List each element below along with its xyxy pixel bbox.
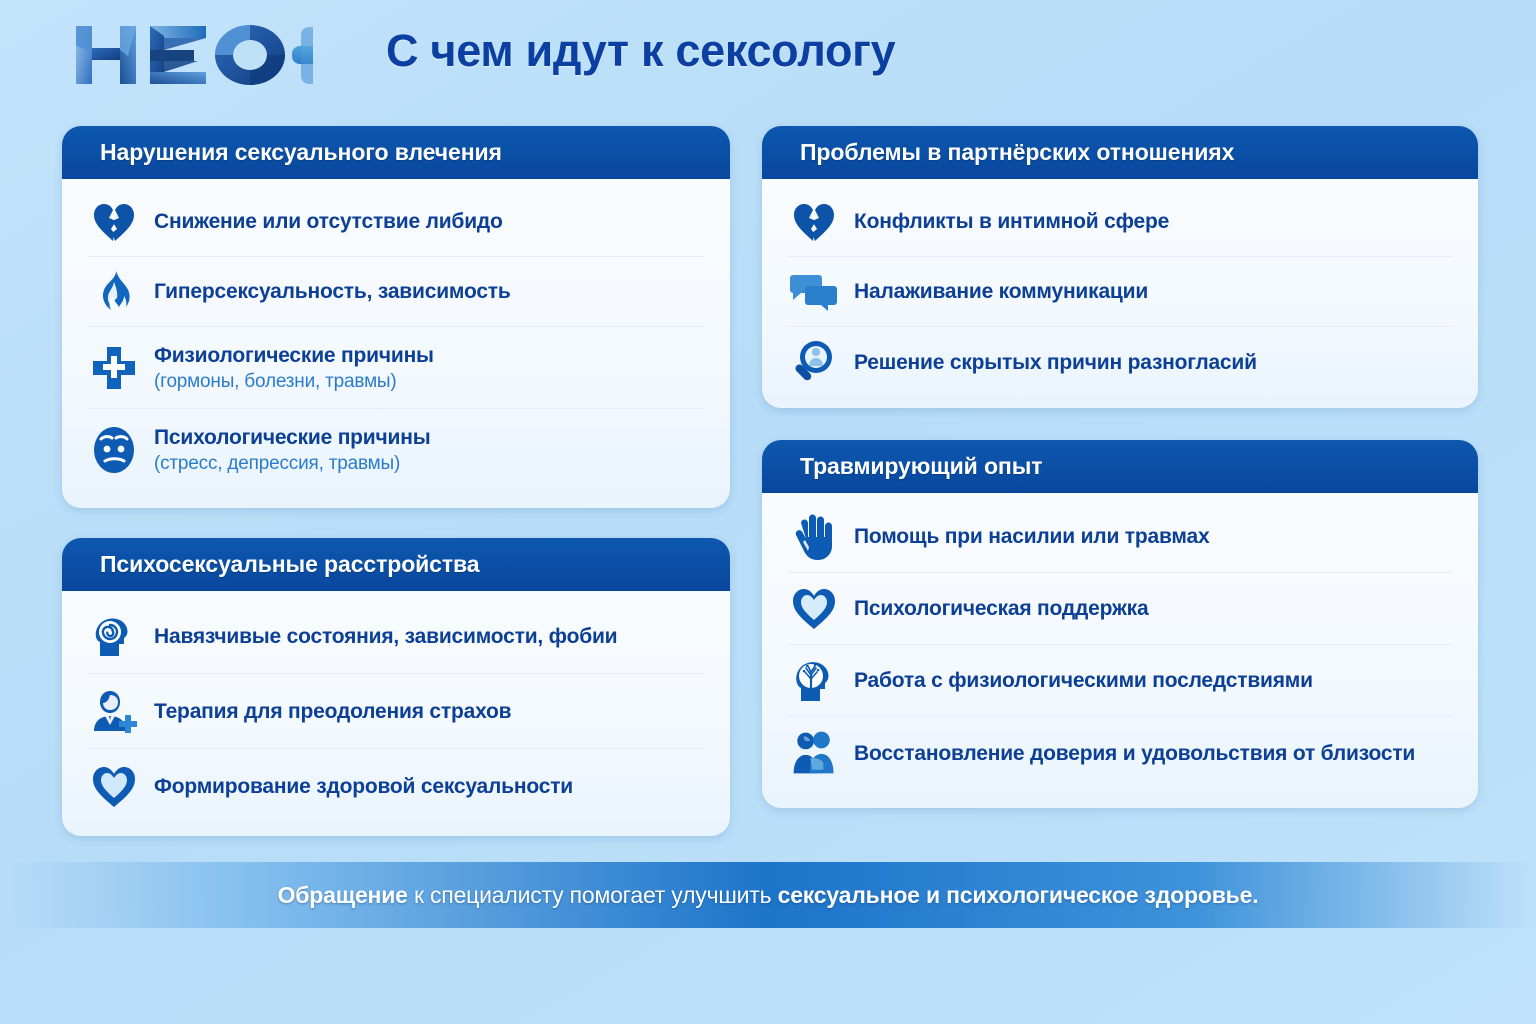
list-item-title: Решение скрытых причин разногласий bbox=[854, 349, 1257, 376]
list-item[interactable]: Восстановление доверия и удовольствия от… bbox=[788, 717, 1452, 789]
sad-face-icon bbox=[88, 424, 140, 476]
list-item-text: Психологические причины (стресс, депресс… bbox=[154, 424, 430, 476]
card-psychosexual-body: Навязчивые состояния, зависимости, фобии… bbox=[62, 591, 730, 836]
list-item-text: Снижение или отсутствие либидо bbox=[154, 208, 503, 235]
card-desire-body: Снижение или отсутствие либидо Гиперсекс… bbox=[62, 179, 730, 503]
list-item-text: Терапия для преодоления страхов bbox=[154, 698, 511, 725]
list-item-text: Навязчивые состояния, зависимости, фобии bbox=[154, 623, 617, 650]
flame-icon bbox=[88, 266, 140, 318]
neo-plus-logo bbox=[58, 16, 313, 94]
list-item-text: Помощь при насилии или травмах bbox=[854, 523, 1209, 550]
list-item-text: Налаживание коммуникации bbox=[854, 278, 1148, 305]
list-item[interactable]: Налаживание коммуникации bbox=[788, 257, 1452, 327]
list-item-title: Гиперсексуальность, зависимость bbox=[154, 278, 511, 305]
magnifier-person-icon bbox=[788, 336, 840, 388]
card-trauma-title: Травмирующий опыт bbox=[800, 453, 1042, 480]
list-item-text: Формирование здоровой сексуальности bbox=[154, 773, 573, 800]
footer-tail: сексуальное и психологическое здоровье. bbox=[778, 882, 1259, 908]
open-hand-icon bbox=[788, 511, 840, 563]
card-trauma-header: Травмирующий опыт bbox=[762, 440, 1478, 493]
footer-banner: Обращение к специалисту помогает улучшит… bbox=[0, 862, 1536, 928]
head-spiral-icon bbox=[88, 610, 140, 662]
couple-hug-icon bbox=[788, 727, 840, 779]
list-item-subtitle: (гормоны, болезни, травмы) bbox=[154, 369, 434, 394]
page-title: С чем идут к сексологу bbox=[386, 21, 1086, 81]
list-item-subtitle: (стресс, депрессия, травмы) bbox=[154, 451, 430, 476]
card-desire-header: Нарушения сексуального влечения bbox=[62, 126, 730, 179]
speech-bubbles-icon bbox=[788, 266, 840, 318]
list-item-text: Восстановление доверия и удовольствия от… bbox=[854, 740, 1415, 767]
card-partner-body: Конфликты в интимной сфере Налаживание к… bbox=[762, 179, 1478, 408]
list-item-title: Навязчивые состояния, зависимости, фобии bbox=[154, 623, 617, 650]
list-item[interactable]: Решение скрытых причин разногласий bbox=[788, 327, 1452, 397]
list-item-text: Решение скрытых причин разногласий bbox=[854, 349, 1257, 376]
list-item[interactable]: Конфликты в интимной сфере bbox=[788, 187, 1452, 257]
list-item[interactable]: Гиперсексуальность, зависимость bbox=[88, 257, 704, 327]
infographic-page: С чем идут к сексологу Нарушения сексуал… bbox=[0, 0, 1536, 1024]
list-item-text: Психологическая поддержка bbox=[854, 595, 1148, 622]
list-item[interactable]: Физиологические причины (гормоны, болезн… bbox=[88, 327, 704, 409]
broken-heart-icon bbox=[788, 196, 840, 248]
list-item[interactable]: Навязчивые состояния, зависимости, фобии bbox=[88, 599, 704, 674]
list-item-title: Физиологические причины bbox=[154, 342, 434, 369]
card-partner: Проблемы в партнёрских отношениях Конфли… bbox=[762, 126, 1478, 408]
head-tree-icon bbox=[788, 655, 840, 707]
list-item-title: Работа с физиологическими последствиями bbox=[854, 667, 1313, 694]
card-desire-title: Нарушения сексуального влечения bbox=[100, 139, 502, 166]
list-item[interactable]: Терапия для преодоления страхов bbox=[88, 674, 704, 749]
list-item-title: Снижение или отсутствие либидо bbox=[154, 208, 503, 235]
list-item-text: Работа с физиологическими последствиями bbox=[854, 667, 1313, 694]
list-item[interactable]: Помощь при насилии или травмах bbox=[788, 501, 1452, 573]
card-partner-header: Проблемы в партнёрских отношениях bbox=[762, 126, 1478, 179]
broken-heart-icon bbox=[88, 196, 140, 248]
person-plus-icon bbox=[88, 685, 140, 737]
list-item-title: Формирование здоровой сексуальности bbox=[154, 773, 573, 800]
medical-cross-icon bbox=[88, 342, 140, 394]
list-item-text: Гиперсексуальность, зависимость bbox=[154, 278, 511, 305]
list-item[interactable]: Снижение или отсутствие либидо bbox=[88, 187, 704, 257]
list-item-title: Психологические причины bbox=[154, 424, 430, 451]
card-psychosexual-header: Психосексуальные расстройства bbox=[62, 538, 730, 591]
heart-icon bbox=[88, 761, 140, 813]
card-partner-title: Проблемы в партнёрских отношениях bbox=[800, 139, 1234, 166]
list-item-title: Восстановление доверия и удовольствия от… bbox=[854, 740, 1415, 767]
footer-text: Обращение к специалисту помогает улучшит… bbox=[278, 882, 1259, 909]
footer-lead: Обращение bbox=[278, 882, 408, 908]
page-header: С чем идут к сексологу bbox=[0, 0, 1536, 112]
list-item-title: Конфликты в интимной сфере bbox=[854, 208, 1169, 235]
footer-mid: к специалисту помогает улучшить bbox=[408, 882, 778, 908]
list-item-title: Помощь при насилии или травмах bbox=[854, 523, 1209, 550]
list-item-text: Физиологические причины (гормоны, болезн… bbox=[154, 342, 434, 394]
list-item[interactable]: Психологическая поддержка bbox=[788, 573, 1452, 645]
card-desire: Нарушения сексуального влечения Снижение… bbox=[62, 126, 730, 508]
card-psychosexual: Психосексуальные расстройства Навязчивые… bbox=[62, 538, 730, 836]
card-trauma: Травмирующий опыт Помощь при насилии или… bbox=[762, 440, 1478, 808]
list-item[interactable]: Психологические причины (стресс, депресс… bbox=[88, 409, 704, 491]
list-item-title: Психологическая поддержка bbox=[854, 595, 1148, 622]
heart-icon bbox=[788, 583, 840, 635]
list-item-text: Конфликты в интимной сфере bbox=[854, 208, 1169, 235]
list-item-title: Терапия для преодоления страхов bbox=[154, 698, 511, 725]
list-item-title: Налаживание коммуникации bbox=[854, 278, 1148, 305]
card-trauma-body: Помощь при насилии или травмах Психологи… bbox=[762, 493, 1478, 801]
card-psychosexual-title: Психосексуальные расстройства bbox=[100, 551, 479, 578]
list-item[interactable]: Работа с физиологическими последствиями bbox=[788, 645, 1452, 717]
list-item[interactable]: Формирование здоровой сексуальности bbox=[88, 749, 704, 824]
